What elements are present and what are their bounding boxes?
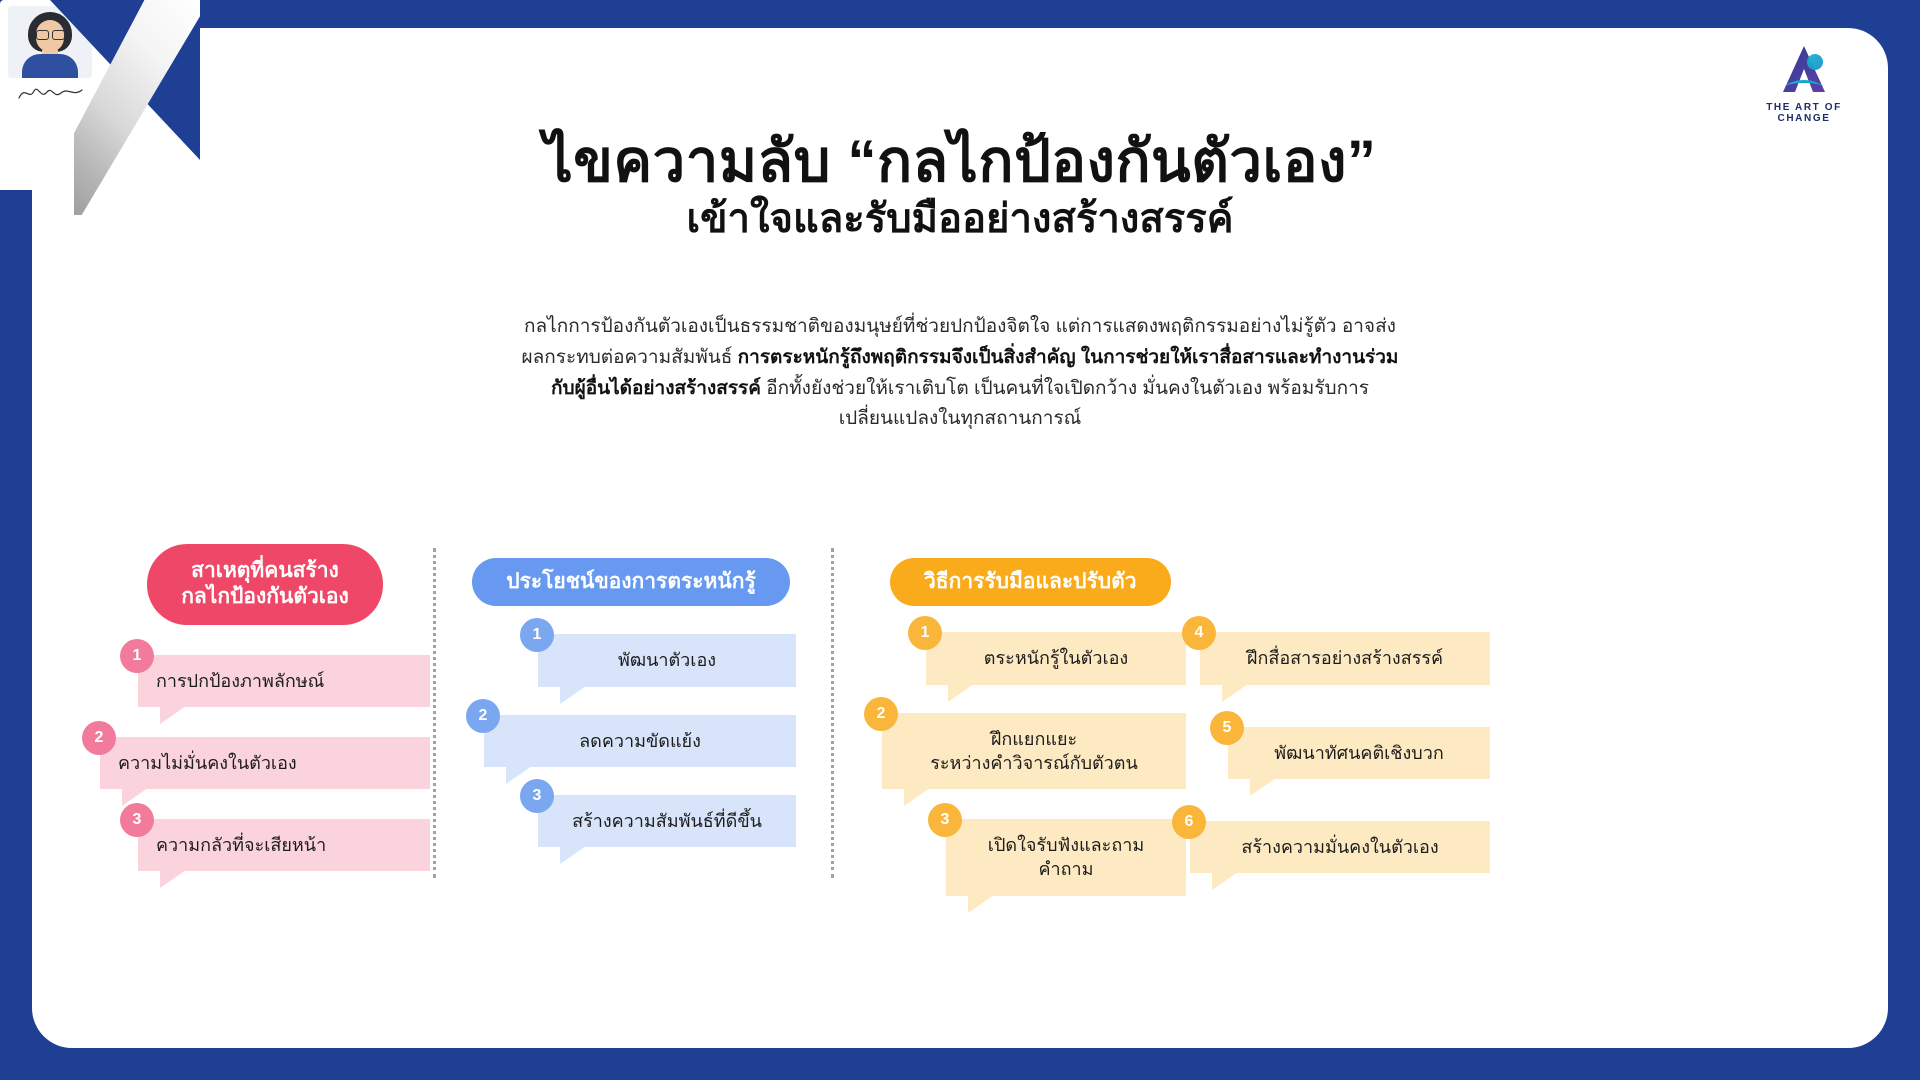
page-corner-curl [0, 0, 200, 215]
item-number: 3 [120, 803, 154, 837]
item-label: ความกลัวที่จะเสียหน้า [138, 819, 430, 871]
item-label: สร้างความสัมพันธ์ที่ดีขึ้น [538, 795, 796, 847]
item-number: 2 [466, 699, 500, 733]
column-causes: สาเหตุที่คนสร้าง กลไกป้องกันตัวเอง 1 การ… [100, 544, 430, 871]
item-label: ฝึกสื่อสารอย่างสร้างสรรค์ [1200, 632, 1490, 684]
column-divider-1 [433, 548, 436, 878]
item-number: 5 [1210, 711, 1244, 745]
column-heading-causes: สาเหตุที่คนสร้าง กลไกป้องกันตัวเอง [147, 544, 383, 625]
column-methods: วิธีการรับมือและปรับตัว 1 ตระหนักรู้ในตั… [880, 544, 1500, 932]
item-number: 1 [908, 616, 942, 650]
lead-paragraph: กลไกการป้องกันตัวเองเป็นธรรมชาติของมนุษย… [510, 312, 1410, 435]
item-number: 3 [928, 803, 962, 837]
item-label: พัฒนาทัศนคติเชิงบวก [1228, 727, 1490, 779]
item-label: เปิดใจรับฟังและถามคำถาม [946, 819, 1186, 896]
list-item[interactable]: 2 ฝึกแยกแยะ ระหว่างคำวิจารณ์กับตัวตน [882, 713, 1186, 790]
page-title: ไขความลับ “กลไกป้องกันตัวเอง” [0, 132, 1920, 193]
item-number: 4 [1182, 616, 1216, 650]
column-benefits: ประโยชน์ของการตระหนักรู้ 1 พัฒนาตัวเอง 2… [466, 544, 796, 847]
list-item[interactable]: 3 เปิดใจรับฟังและถามคำถาม [946, 819, 1186, 896]
lead-text: อีกทั้งยังช่วยให้เราเติบโต เป็นคนที่ใจเป… [761, 378, 1369, 430]
column-heading-methods: วิธีการรับมือและปรับตัว [890, 558, 1171, 606]
list-item[interactable]: 1 ตระหนักรู้ในตัวเอง [926, 632, 1186, 684]
item-number: 1 [520, 618, 554, 652]
item-label-line-1: ฝึกแยกแยะ [991, 729, 1077, 749]
methods-left-group: 1 ตระหนักรู้ในตัวเอง 2 ฝึกแยกแยะ ระหว่าง… [926, 632, 1186, 895]
item-number: 2 [864, 697, 898, 731]
list-item[interactable]: 5 พัฒนาทัศนคติเชิงบวก [1228, 727, 1490, 779]
item-label-line-2: ระหว่างคำวิจารณ์กับตัวตน [930, 753, 1138, 773]
list-item[interactable]: 6 สร้างความมั่นคงในตัวเอง [1190, 821, 1490, 873]
item-label: ความไม่มั่นคงในตัวเอง [100, 737, 430, 789]
heading-line-1: สาเหตุที่คนสร้าง [191, 559, 339, 582]
list-item[interactable]: 3 สร้างความสัมพันธ์ที่ดีขึ้น [538, 795, 796, 847]
list-item[interactable]: 2 ลดความขัดแย้ง [484, 715, 796, 767]
item-label: ตระหนักรู้ในตัวเอง [926, 632, 1186, 684]
list-item[interactable]: 1 พัฒนาตัวเอง [538, 634, 796, 686]
methods-right-group: 4 ฝึกสื่อสารอย่างสร้างสรรค์ 5 พัฒนาทัศนค… [1200, 632, 1490, 873]
item-number: 6 [1172, 805, 1206, 839]
list-item[interactable]: 2 ความไม่มั่นคงในตัวเอง [100, 737, 430, 789]
item-label: สร้างความมั่นคงในตัวเอง [1190, 821, 1490, 873]
brand-logo: THE ART OF CHANGE [1744, 42, 1864, 126]
logo-mark-icon [1768, 42, 1840, 98]
page-subtitle: เข้าใจและรับมืออย่างสร้างสรรค์ [0, 196, 1920, 242]
column-heading-benefits: ประโยชน์ของการตระหนักรู้ [472, 558, 789, 606]
list-item[interactable]: 1 การปกป้องภาพลักษณ์ [138, 655, 430, 707]
item-label: พัฒนาตัวเอง [538, 634, 796, 686]
item-number: 2 [82, 721, 116, 755]
heading-line-2: กลไกป้องกันตัวเอง [181, 585, 349, 608]
portrait-glasses-left [36, 30, 49, 40]
item-number: 1 [120, 639, 154, 673]
list-item[interactable]: 4 ฝึกสื่อสารอย่างสร้างสรรค์ [1200, 632, 1490, 684]
logo-wordmark: THE ART OF CHANGE [1744, 102, 1864, 124]
item-number: 3 [520, 779, 554, 813]
item-label: ลดความขัดแย้ง [484, 715, 796, 767]
list-item[interactable]: 3 ความกลัวที่จะเสียหน้า [138, 819, 430, 871]
column-divider-2 [831, 548, 834, 878]
item-label: ฝึกแยกแยะ ระหว่างคำวิจารณ์กับตัวตน [882, 713, 1186, 790]
item-label: การปกป้องภาพลักษณ์ [138, 655, 430, 707]
